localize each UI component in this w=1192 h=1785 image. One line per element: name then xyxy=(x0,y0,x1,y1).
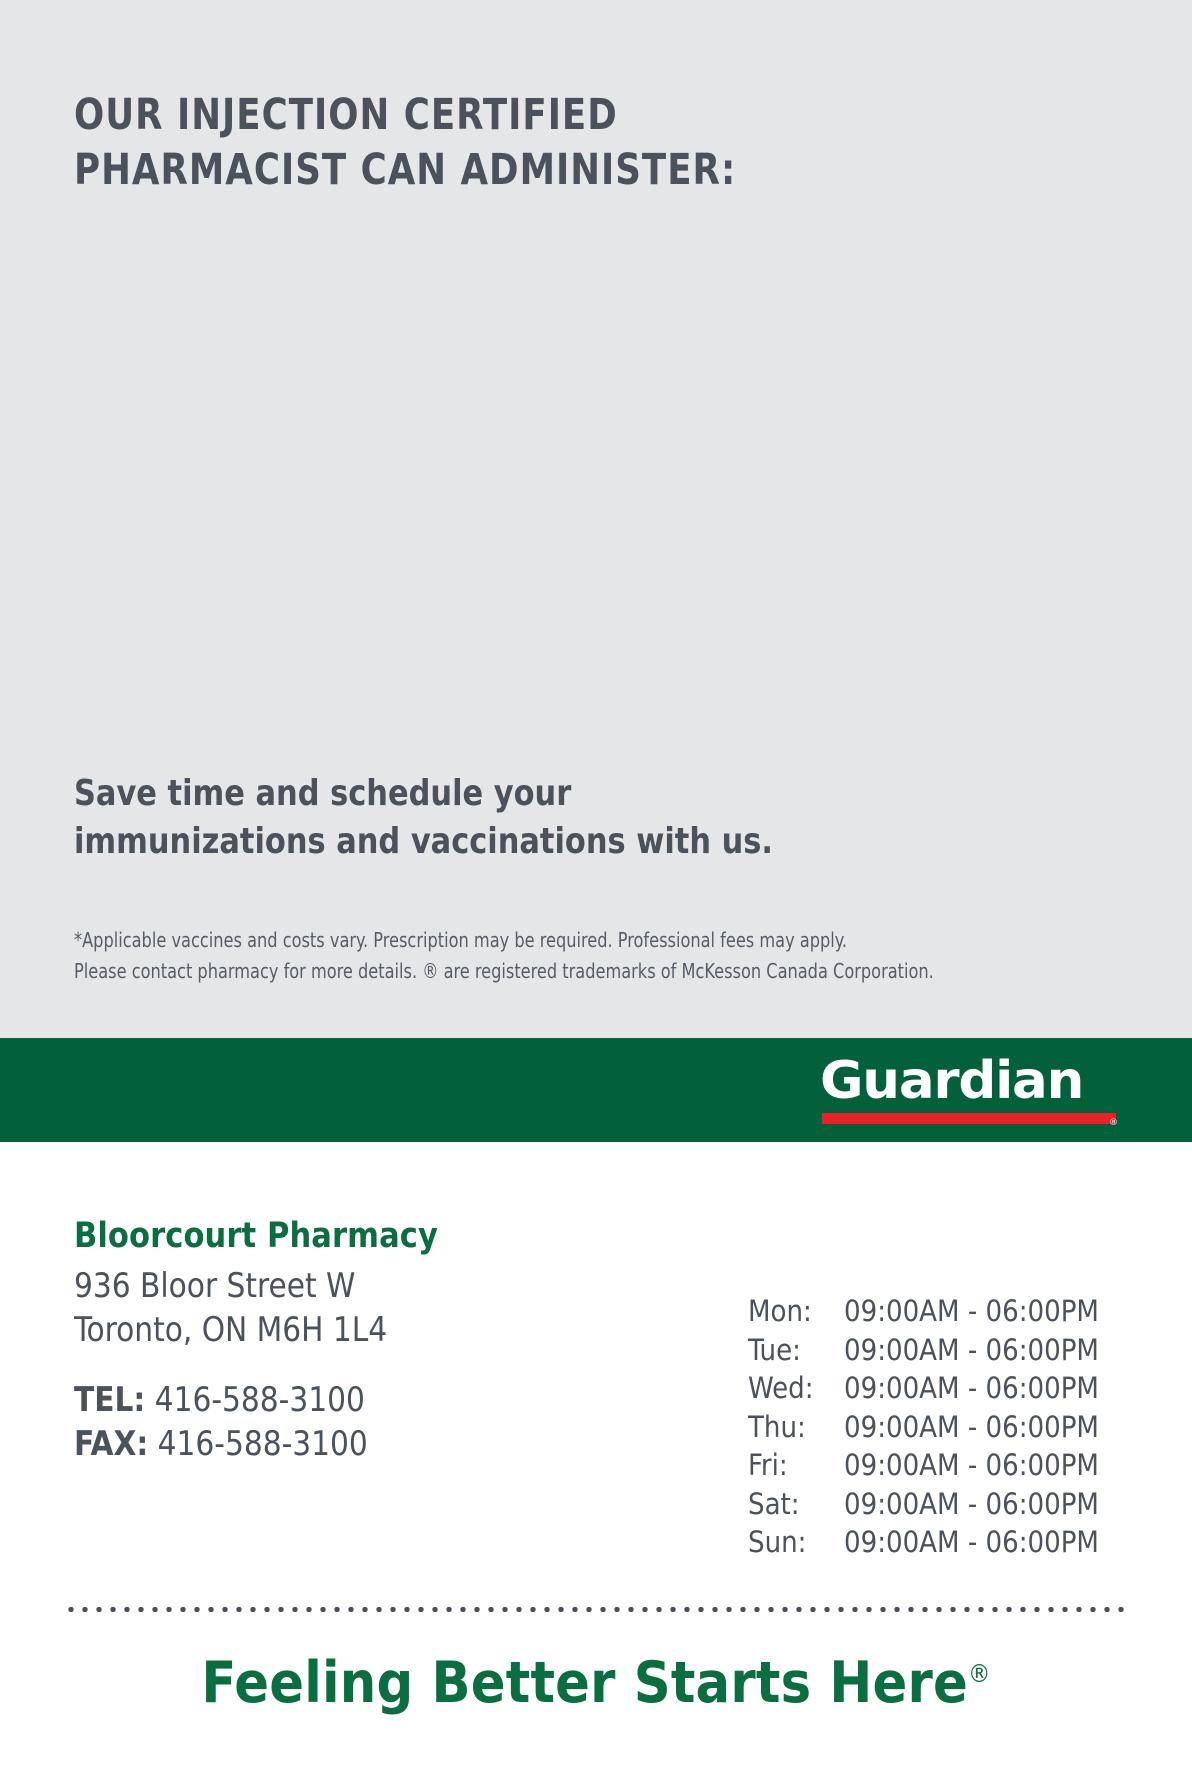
telephone-label: TEL: xyxy=(74,1380,145,1420)
hours-row: Tue: 09:00AM - 06:00PM xyxy=(748,1331,1148,1370)
hours-row: Wed: 09:00AM - 06:00PM xyxy=(748,1369,1148,1408)
guardian-wordmark: Guardian xyxy=(820,1052,1126,1110)
hours-time-value: 09:00AM - 06:00PM xyxy=(844,1369,1148,1408)
subheading-line-2: immunizations and vaccinations with us. xyxy=(74,818,901,866)
pharmacy-poster: OUR INJECTION CERTIFIED PHARMACIST CAN A… xyxy=(0,0,1192,1785)
guardian-logo: Guardian ® xyxy=(820,1052,1120,1130)
address-line-2: Toronto, ON M6H 1L4 xyxy=(74,1309,617,1353)
hours-time-value: 09:00AM - 06:00PM xyxy=(844,1292,1148,1331)
fax-label: FAX: xyxy=(74,1424,148,1464)
hours-time-value: 09:00AM - 06:00PM xyxy=(844,1485,1148,1524)
hours-row: Sat: 09:00AM - 06:00PM xyxy=(748,1485,1148,1524)
tagline-text: Feeling Better Starts Here xyxy=(201,1650,968,1716)
disclaimer-line-1: *Applicable vaccines and costs vary. Pre… xyxy=(74,925,1028,956)
headline-line-1: OUR INJECTION CERTIFIED xyxy=(74,88,902,143)
dotted-divider xyxy=(64,1606,1126,1613)
store-contact: TEL: 416-588-3100 FAX: 416-588-3100 xyxy=(74,1378,617,1466)
hours-time-value: 09:00AM - 06:00PM xyxy=(844,1446,1148,1485)
tagline: Feeling Better Starts Here® xyxy=(0,1652,1192,1715)
hours-row: Fri: 09:00AM - 06:00PM xyxy=(748,1446,1148,1485)
hours-time-value: 09:00AM - 06:00PM xyxy=(844,1408,1148,1447)
subheading-line-1: Save time and schedule your xyxy=(74,770,901,818)
headline-line-2: PHARMACIST CAN ADMINISTER: xyxy=(74,143,902,198)
hours-row: Sun: 09:00AM - 06:00PM xyxy=(748,1523,1148,1562)
hours-day-label: Fri: xyxy=(748,1446,844,1485)
disclaimer-line-2: Please contact pharmacy for more details… xyxy=(74,956,1028,987)
tagline-registered-icon: ® xyxy=(968,1659,991,1688)
store-name: Bloorcourt Pharmacy xyxy=(74,1217,617,1256)
disclaimer-text: *Applicable vaccines and costs vary. Pre… xyxy=(74,925,1028,987)
top-panel: OUR INJECTION CERTIFIED PHARMACIST CAN A… xyxy=(0,0,1192,1038)
hours-day-label: Wed: xyxy=(748,1369,844,1408)
address-line-1: 936 Bloor Street W xyxy=(74,1265,617,1309)
subheading: Save time and schedule your immunization… xyxy=(74,770,901,865)
store-hours-table: Mon: 09:00AM - 06:00PM Tue: 09:00AM - 06… xyxy=(748,1292,1148,1562)
hours-row: Thu: 09:00AM - 06:00PM xyxy=(748,1408,1148,1447)
bottom-panel: Bloorcourt Pharmacy 936 Bloor Street W T… xyxy=(0,1142,1192,1785)
telephone-row: TEL: 416-588-3100 xyxy=(74,1378,617,1422)
hours-day-label: Thu: xyxy=(748,1408,844,1447)
hours-day-label: Sun: xyxy=(748,1523,844,1562)
fax-value: 416-588-3100 xyxy=(158,1424,368,1464)
hours-time-value: 09:00AM - 06:00PM xyxy=(844,1331,1148,1370)
hours-day-label: Sat: xyxy=(748,1485,844,1524)
store-address: 936 Bloor Street W Toronto, ON M6H 1L4 xyxy=(74,1265,617,1352)
hours-time-value: 09:00AM - 06:00PM xyxy=(844,1523,1148,1562)
hours-row: Mon: 09:00AM - 06:00PM xyxy=(748,1292,1148,1331)
hours-day-label: Mon: xyxy=(748,1292,844,1331)
page-title: OUR INJECTION CERTIFIED PHARMACIST CAN A… xyxy=(74,88,902,198)
brand-band: Guardian ® xyxy=(0,1038,1192,1142)
registered-trademark-icon: ® xyxy=(1109,1119,1118,1128)
fax-row: FAX: 416-588-3100 xyxy=(74,1422,617,1466)
telephone-value[interactable]: 416-588-3100 xyxy=(155,1380,365,1420)
hours-day-label: Tue: xyxy=(748,1331,844,1370)
logo-underline-bar xyxy=(822,1113,1116,1124)
store-info: Bloorcourt Pharmacy 936 Bloor Street W T… xyxy=(74,1217,634,1467)
